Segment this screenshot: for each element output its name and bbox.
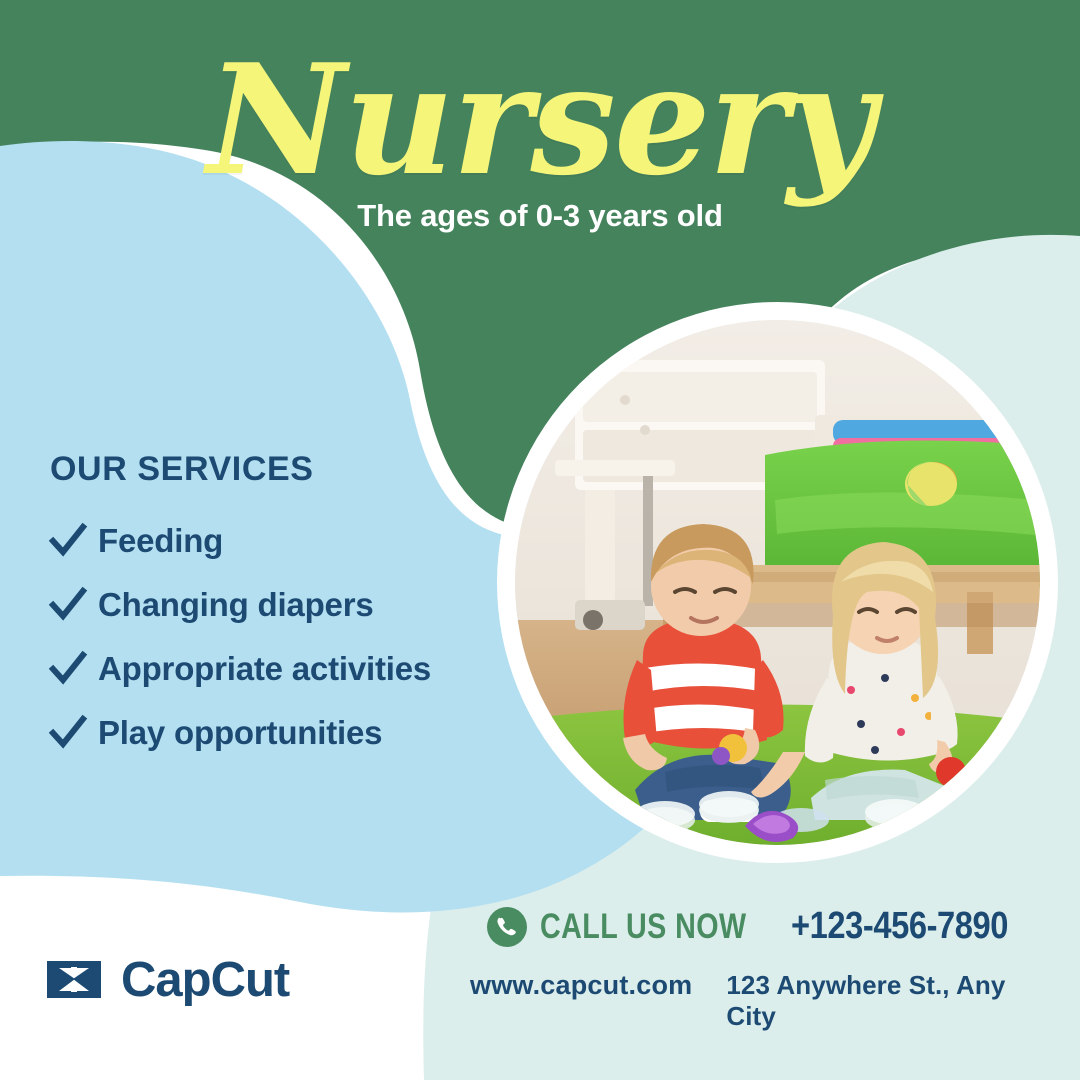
header-block: Nursery The ages of 0-3 years old bbox=[0, 48, 1080, 234]
hero-photo bbox=[515, 320, 1040, 845]
phone-number[interactable]: +123-456-7890 bbox=[791, 905, 1008, 948]
call-us-label: CALL US NOW bbox=[540, 907, 746, 947]
list-item: Play opportunities bbox=[48, 713, 518, 753]
service-label: Play opportunities bbox=[98, 714, 382, 752]
list-item: Feeding bbox=[48, 521, 518, 561]
check-icon bbox=[48, 521, 88, 561]
page-subtitle: The ages of 0-3 years old bbox=[0, 198, 1080, 234]
children-playing-photo bbox=[515, 320, 1040, 845]
service-label: Feeding bbox=[98, 522, 223, 560]
page-title: Nursery bbox=[0, 48, 1080, 192]
check-icon bbox=[48, 649, 88, 689]
contact-meta: www.capcut.com 123 Anywhere St., Any Cit… bbox=[470, 970, 1060, 1032]
services-section: OUR SERVICES Feeding Changing diapers Ap… bbox=[48, 450, 518, 777]
check-icon bbox=[48, 585, 88, 625]
services-heading: OUR SERVICES bbox=[50, 450, 518, 489]
capcut-logo-icon bbox=[45, 957, 103, 1003]
contact-section: CALL US NOW +123-456-7890 www.capcut.com… bbox=[470, 905, 1060, 1032]
list-item: Changing diapers bbox=[48, 585, 518, 625]
call-row[interactable]: CALL US NOW +123-456-7890 bbox=[470, 905, 1060, 948]
address-text: 123 Anywhere St., Any City bbox=[726, 970, 1060, 1032]
capcut-logo[interactable]: CapCut bbox=[45, 952, 289, 1008]
phone-icon bbox=[487, 907, 527, 947]
service-label: Appropriate activities bbox=[98, 650, 431, 688]
poster-canvas: Nursery The ages of 0-3 years old bbox=[0, 0, 1080, 1080]
website-link[interactable]: www.capcut.com bbox=[470, 970, 692, 1001]
list-item: Appropriate activities bbox=[48, 649, 518, 689]
capcut-logo-text: CapCut bbox=[121, 952, 289, 1008]
service-label: Changing diapers bbox=[98, 586, 374, 624]
check-icon bbox=[48, 713, 88, 753]
